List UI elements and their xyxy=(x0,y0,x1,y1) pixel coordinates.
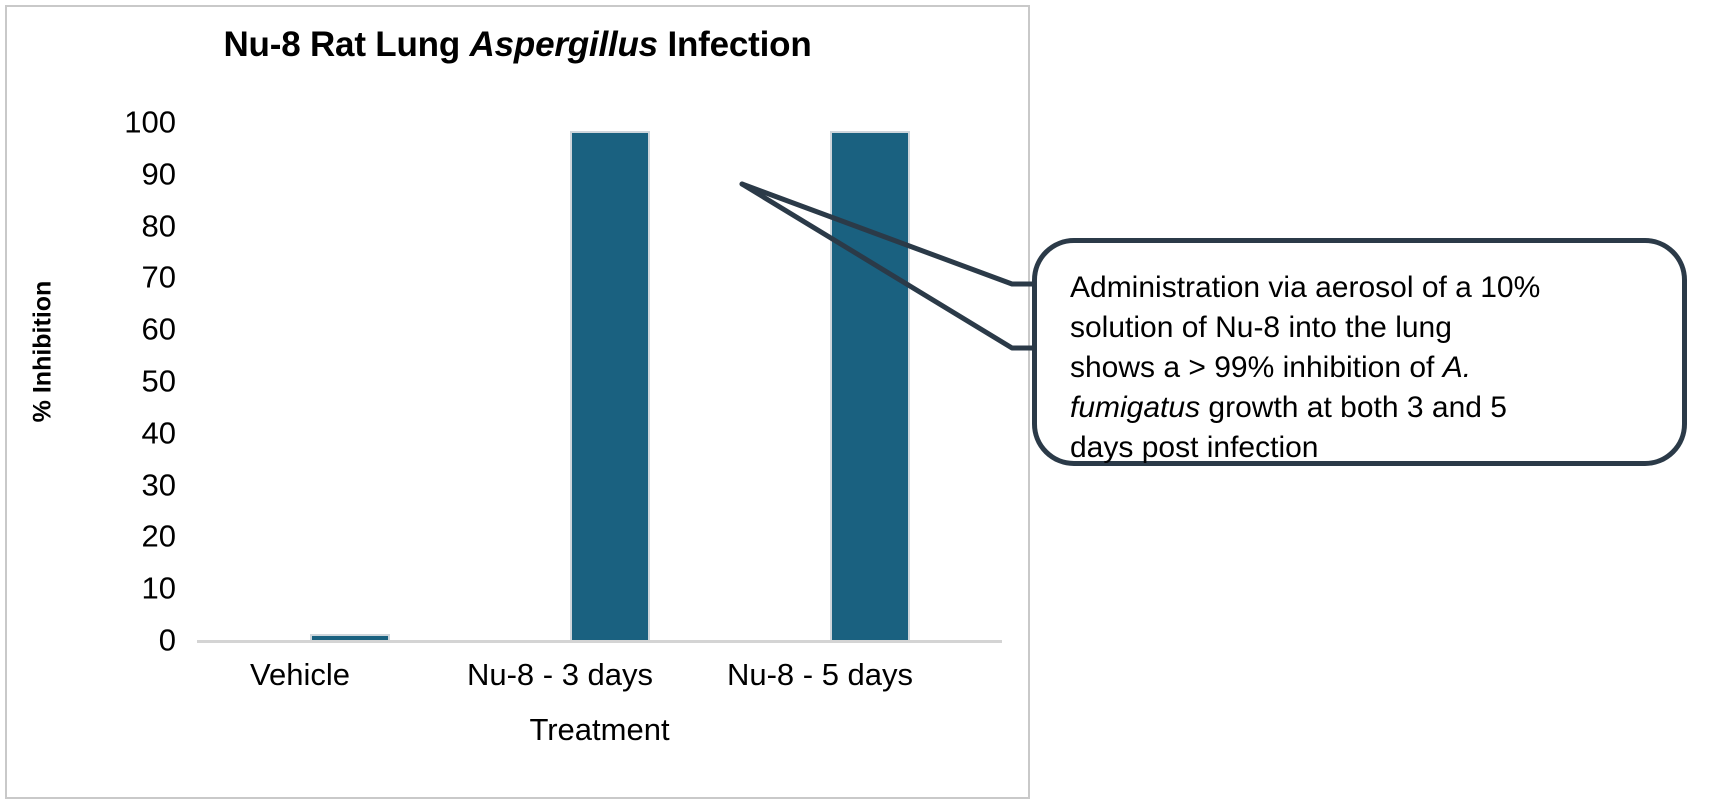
callout-line-3-text: shows a > 99% inhibition of xyxy=(1070,351,1443,384)
callout-line-4-text: growth at both 3 and 5 xyxy=(1200,391,1507,424)
x-tick-label-vehicle: Vehicle xyxy=(190,657,410,693)
y-tick-label: 10 xyxy=(92,573,176,604)
y-tick-label: 40 xyxy=(92,417,176,448)
callout-line-1: Administration via aerosol of a 10% xyxy=(1070,268,1660,308)
callout-text: Administration via aerosol of a 10% solu… xyxy=(1070,268,1660,468)
y-tick-label: 50 xyxy=(92,366,176,397)
chart-title-species: Aspergillus xyxy=(470,25,658,64)
bar-nu8-5-days[interactable] xyxy=(830,131,910,642)
callout-line-5: days post infection xyxy=(1070,428,1660,468)
callout-line-2: solution of Nu-8 into the lung xyxy=(1070,308,1660,348)
callout-species-fumigatus: fumigatus xyxy=(1070,391,1200,424)
callout-line-3: shows a > 99% inhibition of A. xyxy=(1070,348,1660,388)
callout-species-abbrev: A. xyxy=(1443,351,1471,384)
y-tick-label: 70 xyxy=(92,262,176,293)
chart-container: Nu-8 Rat Lung Aspergillus Infection % In… xyxy=(5,5,1030,799)
y-axis-tick-labels: 100 90 80 70 60 50 40 30 20 10 0 xyxy=(92,7,176,801)
y-tick-label: 30 xyxy=(92,469,176,500)
y-tick-label: 100 xyxy=(92,107,176,138)
y-tick-label: 0 xyxy=(92,625,176,656)
chart-title-part-1: Nu-8 Rat Lung xyxy=(223,25,469,64)
y-axis-title: % Inhibition xyxy=(29,272,58,432)
y-tick-label: 90 xyxy=(92,158,176,189)
x-tick-label-nu8-5-days: Nu-8 - 5 days xyxy=(710,657,930,693)
plot-area xyxy=(197,107,1002,642)
x-tick-label-nu8-3-days: Nu-8 - 3 days xyxy=(450,657,670,693)
y-tick-label: 80 xyxy=(92,210,176,241)
callout-line-4: fumigatus growth at both 3 and 5 xyxy=(1070,388,1660,428)
y-tick-label: 60 xyxy=(92,314,176,345)
chart-title-part-2: Infection xyxy=(658,25,812,64)
x-axis-line xyxy=(197,640,1002,643)
x-axis-title: Treatment xyxy=(197,712,1002,748)
y-tick-label: 20 xyxy=(92,521,176,552)
bar-nu8-3-days[interactable] xyxy=(570,131,650,642)
